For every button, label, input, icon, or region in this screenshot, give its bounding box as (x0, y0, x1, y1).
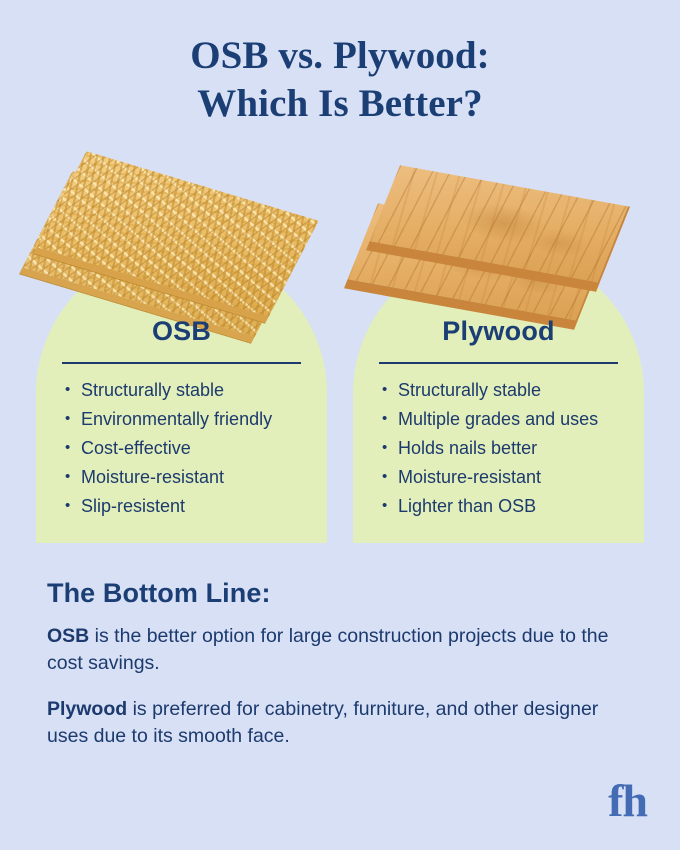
comparison-cards: OSB Structurally stable Environmentally … (36, 248, 644, 543)
fh-logo: fh (608, 778, 647, 824)
page-title: OSB vs. Plywood: Which Is Better? (0, 32, 680, 127)
list-item: Multiple grades and uses (381, 405, 636, 434)
plywood-sheet-stack (367, 184, 629, 310)
feature-list-plywood: Structurally stable Multiple grades and … (381, 376, 636, 521)
list-item: Moisture-resistant (64, 463, 319, 492)
infographic-root: OSB vs. Plywood: Which Is Better? OSB St… (0, 0, 680, 850)
feature-list-osb: Structurally stable Environmentally frie… (64, 376, 319, 521)
title-line-2: Which Is Better? (0, 80, 680, 128)
card-heading-osb: OSB (36, 316, 327, 347)
osb-illustration (36, 180, 327, 310)
card-divider-osb (62, 362, 301, 364)
paragraph-lead-plywood: Plywood (47, 698, 127, 720)
list-item: Structurally stable (64, 376, 319, 405)
card-divider-plywood (379, 362, 618, 364)
list-item: Moisture-resistant (381, 463, 636, 492)
list-item: Cost-effective (64, 434, 319, 463)
list-item: Lighter than OSB (381, 492, 636, 521)
list-item: Structurally stable (381, 376, 636, 405)
plywood-illustration (353, 180, 644, 310)
paragraph-body-osb: is the better option for large construct… (47, 625, 608, 674)
bottom-line-section: The Bottom Line: OSB is the better optio… (47, 578, 647, 769)
bottom-line-heading: The Bottom Line: (47, 578, 647, 609)
paragraph-lead-osb: OSB (47, 625, 89, 647)
list-item: Environmentally friendly (64, 405, 319, 434)
bottom-paragraph-osb: OSB is the better option for large const… (47, 623, 632, 677)
list-item: Slip-resistent (64, 492, 319, 521)
comparison-card-plywood: Plywood Structurally stable Multiple gra… (353, 248, 644, 543)
list-item: Holds nails better (381, 434, 636, 463)
card-heading-plywood: Plywood (353, 316, 644, 347)
bottom-paragraph-plywood: Plywood is preferred for cabinetry, furn… (47, 696, 632, 750)
title-line-1: OSB vs. Plywood: (0, 32, 680, 80)
osb-board-stack (54, 180, 312, 310)
comparison-card-osb: OSB Structurally stable Environmentally … (36, 248, 327, 543)
paragraph-body-plywood: is preferred for cabinetry, furniture, a… (47, 698, 598, 747)
